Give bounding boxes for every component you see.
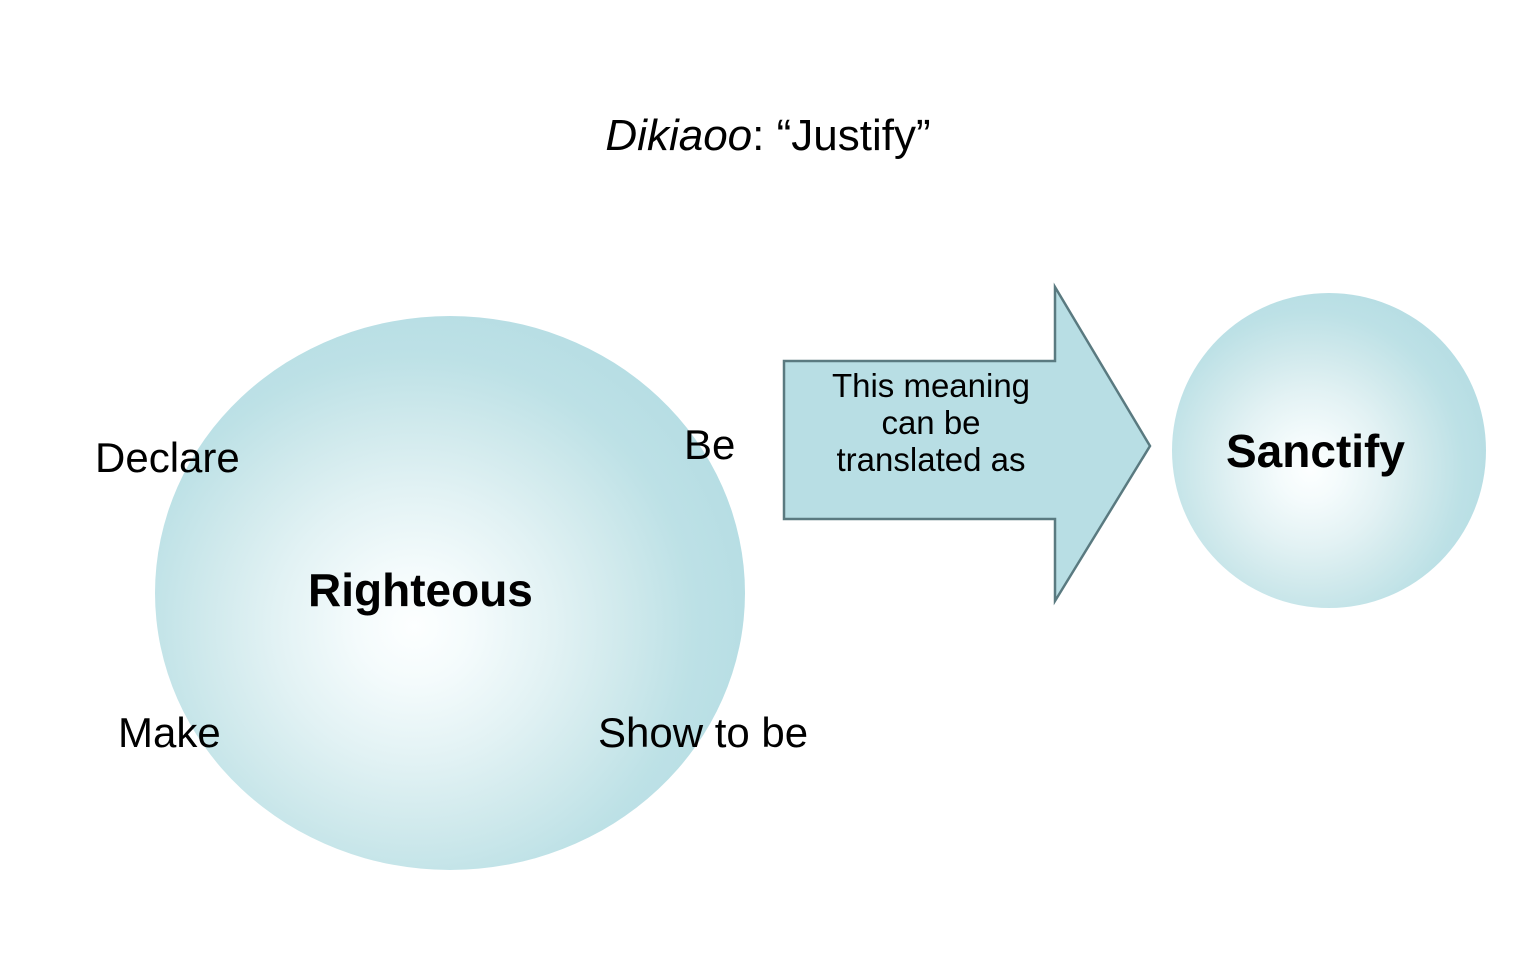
title-greek-term: Dikiaoo — [605, 111, 752, 160]
label-sanctify: Sanctify — [1226, 428, 1405, 474]
label-make: Make — [118, 710, 221, 756]
label-show-to-be: Show to be — [598, 710, 808, 756]
arrow-label-line-3: translated as — [786, 441, 1076, 478]
diagram-title: Dikiaoo: “Justify” — [0, 110, 1536, 162]
arrow-connector: This meaning can be translated as — [778, 281, 1156, 611]
arrow-label-line-2: can be — [786, 404, 1076, 441]
arrow-label: This meaning can be translated as — [786, 367, 1076, 478]
label-righteous: Righteous — [308, 567, 533, 613]
arrow-label-line-1: This meaning — [786, 367, 1076, 404]
title-translation: : “Justify” — [752, 111, 930, 160]
label-be: Be — [684, 422, 735, 468]
diagram-canvas: Dikiaoo: “Justify” This meaning can be t… — [0, 0, 1536, 960]
label-declare: Declare — [95, 435, 240, 481]
